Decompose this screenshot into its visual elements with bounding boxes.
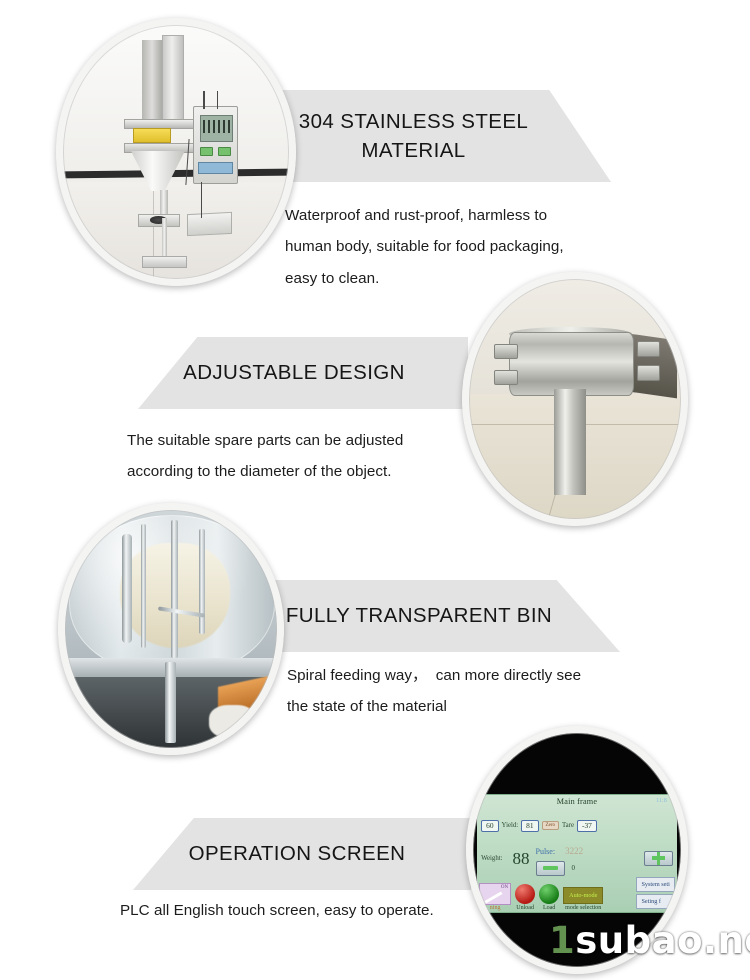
nozzle-drum-body [509,332,634,396]
feature-text-operation-screen: PLC all English touch screen, easy to op… [120,895,480,926]
plc-pulse-label: Pulse: [536,847,556,856]
feature-text-line: human body, suitable for food packaging, [285,231,625,262]
plus-icon [652,852,665,865]
machine-side-box [187,212,232,237]
feature-photo-adjustable-design [462,272,688,526]
banner-title-operation-screen: OPERATION SCREEN [133,839,471,868]
feature-text-line: Spiral feeding way， can more directly se… [287,660,637,691]
machine-upper-column [162,35,183,123]
bin-side-tube [122,534,132,643]
machine-upper-column-left [142,40,162,121]
plc-tare-label: Tare [562,822,574,829]
banner-title-transparent-bin: FULLY TRANSPARENT BIN [268,601,620,630]
plc-knob-on-label: ON [501,885,508,890]
panel-buttons [200,147,231,156]
plc-weight-value: 88 [513,850,530,867]
plc-unload-button[interactable] [515,884,535,904]
banner-title-adjustable-design: ADJUSTABLE DESIGN [138,358,468,387]
plc-clock: 11:8 [656,797,667,804]
plc-system-setting-button[interactable]: System seti [636,877,674,892]
banner-title-line: 304 STAINLESS STEEL [299,110,528,133]
plc-pulse-step: 0 [572,864,576,872]
plc-parameter-row: 60 Yield: 81 Zero Tare -37 [481,815,673,837]
nozzle-fitting-lower-left [494,370,517,385]
machine-support-post [162,218,168,259]
plc-weight-label: Weight: [481,855,502,862]
nozzle-outlet-stem [554,389,586,495]
feature-text-line: PLC all English touch screen, easy to op… [120,895,480,926]
feature-text-line: Waterproof and rust-proof, harmless to [285,200,625,231]
plc-tare-field[interactable]: -37 [577,820,597,833]
panel-label-strip [198,162,232,174]
feature-banner-adjustable-design: ADJUSTABLE DESIGN [138,337,468,409]
machine-control-panel [193,106,238,184]
bin-stirring-rod-left [141,524,146,648]
feature-text-adjustable-design: The suitable spare parts can be adjusted… [127,425,467,488]
plc-selector-knob[interactable]: ON [479,883,511,905]
machine-base-foot [142,256,187,268]
feature-text-line: The suitable spare parts can be adjusted [127,425,467,456]
plc-yield-field[interactable]: 81 [521,820,538,833]
bin-stirring-rod-center [171,520,178,658]
plc-auto-mode-button[interactable]: Auto-mode [563,887,603,904]
feature-photo-stainless-steel [56,18,296,286]
nozzle-fitting-lower-right [637,365,660,380]
nozzle-fitting-upper-left [494,344,517,359]
machine-yellow-label [133,128,171,143]
plc-unload-label: Unload [516,905,534,911]
watermark-domain: subao.net [575,919,750,962]
plc-weight-row: Weight: 88 Pulse: 3222 0 [481,840,673,875]
plc-zero-button[interactable]: Zero [542,821,559,830]
plc-load-label: Load [543,905,555,911]
minus-icon [543,866,558,869]
feature-text-transparent-bin: Spiral feeding way， can more directly se… [287,660,637,723]
feature-banner-operation-screen: OPERATION SCREEN [133,818,471,890]
nozzle-fitting-upper-right [637,341,660,356]
plc-minus-button[interactable] [536,861,565,876]
watermark-prefix: 1 [549,919,575,962]
plc-running-label: ning [490,905,501,911]
panel-power-cord [201,182,202,218]
plc-screen-title: Main frame [477,797,677,806]
banner-title-stainless-steel: 304 STAINLESS STEEL MATERIAL [268,107,611,165]
plc-load-button[interactable] [539,884,559,904]
plc-touch-screen[interactable]: Main frame 11:8 60 Yield: 81 Zero Tare -… [477,794,677,913]
plc-control-row: ON ning Unload Load Auto-mode mode selec… [479,876,675,911]
nozzle-photo-scene [469,279,681,519]
plc-mode-selection-label: mode selection [565,905,601,911]
bin-photo-scene [65,510,277,748]
plc-speed-field[interactable]: 60 [481,820,498,833]
bin-white-object [209,705,256,738]
banner-title-line: MATERIAL [361,139,465,162]
feature-banner-stainless-steel: 304 STAINLESS STEEL MATERIAL [268,90,611,182]
bin-stirring-rod-right [199,529,205,634]
panel-cable-a [203,91,205,109]
panel-display [200,115,234,142]
feature-text-line: according to the diameter of the object. [127,456,467,487]
infographic-page: 304 STAINLESS STEEL MATERIAL Waterproof … [0,0,750,980]
machine-photo-scene [63,25,289,279]
plc-pulse-value: 3222 [565,846,583,856]
feature-photo-transparent-bin [58,503,284,755]
plc-setting-button[interactable]: Seting f [636,894,674,909]
panel-cable-b [217,91,219,109]
site-watermark: 1subao.net [549,919,750,962]
bin-outlet-shaft [165,662,176,743]
feature-banner-transparent-bin: FULLY TRANSPARENT BIN [268,580,620,652]
plc-yield-label: Yield: [502,822,519,829]
feature-text-line: the state of the material [287,691,637,722]
plc-plus-button[interactable] [644,851,673,866]
